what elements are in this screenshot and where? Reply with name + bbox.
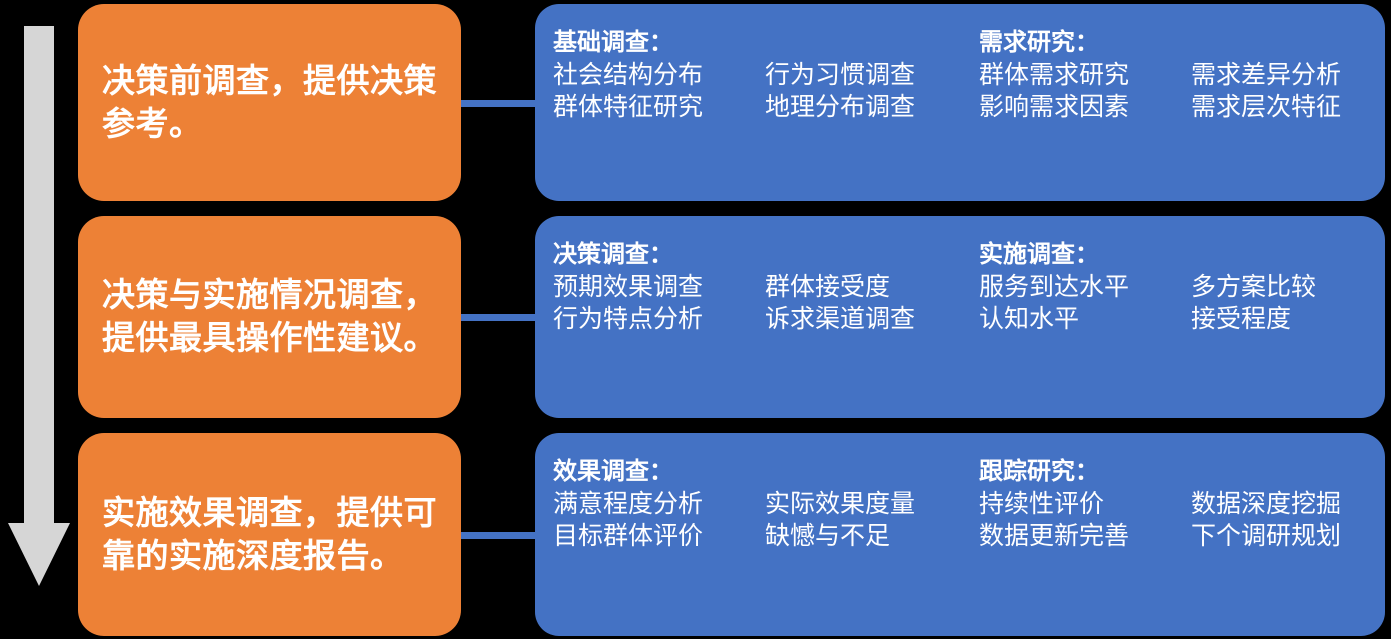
group-grid-2-1: 预期效果调查 群体接受度 行为特点分析 诉求渠道调查 [553,271,971,336]
detail-item: 需求差异分析 [1191,59,1391,92]
stage-card-1[interactable]: 决策前调查，提供决策参考。 [78,4,461,201]
detail-group-1-2: 需求研究： 群体需求研究 需求差异分析 影响需求因素 需求层次特征 [979,30,1391,187]
flow-row-3: 实施效果调查，提供可靠的实施深度报告。 效果调查： 满意程度分析 实际效果度量 … [0,433,1391,636]
stage-title-3: 实施效果调查，提供可靠的实施深度报告。 [102,492,439,578]
detail-item: 数据更新完善 [979,520,1191,553]
group-grid-1-2: 群体需求研究 需求差异分析 影响需求因素 需求层次特征 [979,59,1391,124]
group-heading-3-1: 效果调查： [553,459,971,486]
group-heading-1-2: 需求研究： [979,30,1391,57]
detail-panel-1[interactable]: 基础调查： 社会结构分布 行为习惯调查 群体特征研究 地理分布调查 需求研究： … [535,4,1385,201]
detail-item: 诉求渠道调查 [765,303,971,336]
detail-item: 下个调研规划 [1191,520,1391,553]
connector-line-1 [461,100,537,107]
detail-group-3-2: 跟踪研究： 持续性评价 数据深度挖掘 数据更新完善 下个调研规划 [979,459,1391,622]
detail-item: 行为特点分析 [553,303,765,336]
detail-item: 实际效果度量 [765,488,971,521]
group-grid-2-2: 服务到达水平 多方案比较 认知水平 接受程度 [979,271,1391,336]
detail-item: 持续性评价 [979,488,1191,521]
group-grid-3-1: 满意程度分析 实际效果度量 目标群体评价 缺憾与不足 [553,488,971,553]
stage-title-2: 决策与实施情况调查，提供最具操作性建议。 [102,274,439,360]
flow-row-1: 决策前调查，提供决策参考。 基础调查： 社会结构分布 行为习惯调查 群体特征研究… [0,4,1391,201]
detail-item: 地理分布调查 [765,91,971,124]
connector-line-3 [461,532,537,539]
detail-item: 接受程度 [1191,303,1391,336]
group-grid-3-2: 持续性评价 数据深度挖掘 数据更新完善 下个调研规划 [979,488,1391,553]
detail-group-2-2: 实施调查： 服务到达水平 多方案比较 认知水平 接受程度 [979,242,1391,404]
detail-item: 影响需求因素 [979,91,1191,124]
detail-item: 群体特征研究 [553,91,765,124]
detail-group-2-1: 决策调查： 预期效果调查 群体接受度 行为特点分析 诉求渠道调查 [553,242,971,404]
group-grid-1-1: 社会结构分布 行为习惯调查 群体特征研究 地理分布调查 [553,59,971,124]
detail-group-3-1: 效果调查： 满意程度分析 实际效果度量 目标群体评价 缺憾与不足 [553,459,971,622]
detail-item: 数据深度挖掘 [1191,488,1391,521]
stage-card-3[interactable]: 实施效果调查，提供可靠的实施深度报告。 [78,433,461,636]
detail-group-1-1: 基础调查： 社会结构分布 行为习惯调查 群体特征研究 地理分布调查 [553,30,971,187]
detail-item: 服务到达水平 [979,271,1191,304]
detail-item: 群体接受度 [765,271,971,304]
detail-item: 缺憾与不足 [765,520,971,553]
connector-line-2 [461,314,537,321]
group-heading-2-2: 实施调查： [979,242,1391,269]
stage-title-1: 决策前调查，提供决策参考。 [102,60,439,146]
detail-item: 目标群体评价 [553,520,765,553]
detail-item: 行为习惯调查 [765,59,971,92]
flow-row-2: 决策与实施情况调查，提供最具操作性建议。 决策调查： 预期效果调查 群体接受度 … [0,216,1391,418]
group-heading-1-1: 基础调查： [553,30,971,57]
detail-item: 满意程度分析 [553,488,765,521]
detail-item: 群体需求研究 [979,59,1191,92]
group-heading-3-2: 跟踪研究： [979,459,1391,486]
detail-item: 多方案比较 [1191,271,1391,304]
detail-panel-3[interactable]: 效果调查： 满意程度分析 实际效果度量 目标群体评价 缺憾与不足 跟踪研究： 持… [535,433,1385,636]
detail-item: 认知水平 [979,303,1191,336]
detail-item: 社会结构分布 [553,59,765,92]
stage-card-2[interactable]: 决策与实施情况调查，提供最具操作性建议。 [78,216,461,418]
detail-panel-2[interactable]: 决策调查： 预期效果调查 群体接受度 行为特点分析 诉求渠道调查 实施调查： 服… [535,216,1385,418]
group-heading-2-1: 决策调查： [553,242,971,269]
detail-item: 需求层次特征 [1191,91,1391,124]
detail-item: 预期效果调查 [553,271,765,304]
